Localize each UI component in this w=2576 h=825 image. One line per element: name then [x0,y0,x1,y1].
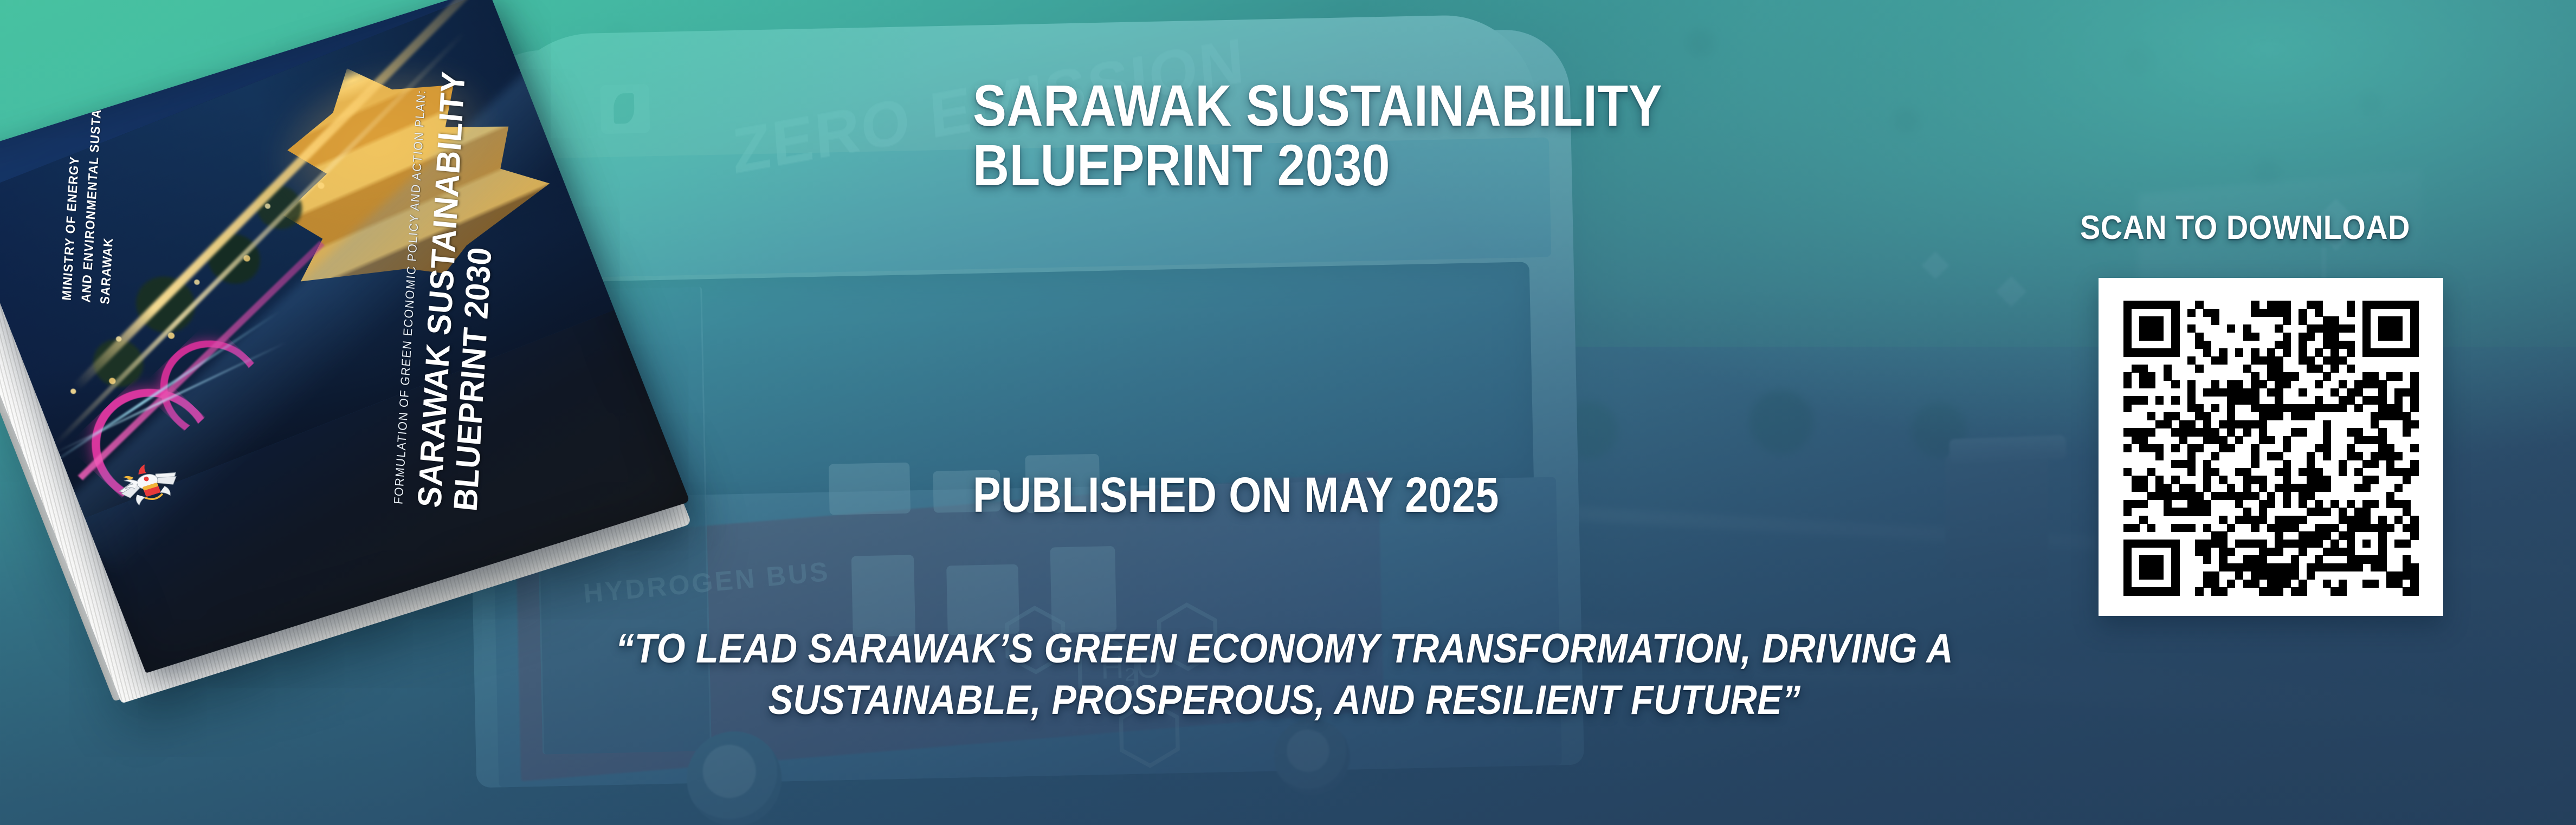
publish-date-label: PUBLISHED ON MAY 2025 [973,467,1499,524]
vision-quote-line-1: “TO LEAD SARAWAK’S GREEN ECONOMY TRANSFO… [382,623,2187,674]
qr-code[interactable] [2099,278,2443,616]
scan-to-download-label: SCAN TO DOWNLOAD [2080,209,2410,247]
qr-code-matrix [2123,301,2418,593]
vision-quote-line-2: SUSTAINABLE, PROSPEROUS, AND RESILIENT F… [382,674,2187,726]
sustainability-blueprint-banner: ZERO EMISSION HYDROGEN BUS H₂O [0,0,2576,825]
page-title: SARAWAK SUSTAINABILITY BLUEPRINT 2030 [973,76,1933,195]
vision-quote: “TO LEAD SARAWAK’S GREEN ECONOMY TRANSFO… [382,623,2187,726]
